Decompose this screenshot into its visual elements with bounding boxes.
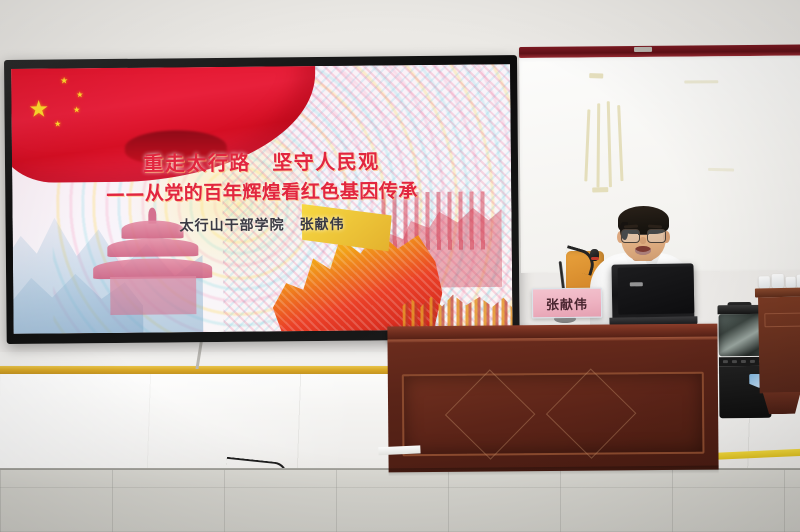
whiteboard-mark — [607, 101, 612, 187]
laptop-screen-back — [618, 266, 695, 314]
cup[interactable] — [797, 275, 800, 289]
flag-star-small-4: ★ — [54, 120, 61, 128]
speaker-podium — [387, 324, 718, 475]
whiteboard-mark — [708, 168, 734, 172]
appliance-button[interactable] — [732, 360, 737, 363]
appliance-button[interactable] — [723, 360, 728, 363]
name-plate-label: 张献伟 — [546, 293, 588, 312]
laptop-lid — [611, 263, 694, 318]
lower-floor — [0, 470, 800, 532]
screen-inner-frame: ★ ★ ★ ★ ★ — [11, 64, 513, 334]
speaker-mouth — [635, 246, 651, 255]
lecture-hall-photo: ★ ★ ★ ★ ★ — [0, 0, 800, 532]
podium-diamond-inlay-right — [546, 368, 637, 459]
flag-star-large: ★ — [28, 97, 49, 120]
microphone-indicator-ring — [591, 257, 599, 260]
slide-text-block: 重走太行路 坚守人民观 ——从党的百年辉煌看红色基因传承 太行山干部学院 张献伟 — [12, 144, 512, 237]
whiteboard-mark — [584, 109, 590, 181]
side-table-leg — [763, 392, 800, 415]
glasses-lens-left — [621, 229, 640, 243]
slide-subtitle: ——从党的百年辉煌看红色基因传承 — [12, 175, 511, 207]
appliance-button[interactable] — [741, 360, 746, 363]
temple-roof-mid — [107, 238, 198, 257]
name-plate: 张献伟 — [532, 288, 602, 319]
whiteboard-mark — [617, 105, 623, 181]
whiteboard-clip — [634, 47, 652, 52]
podium-front — [388, 340, 719, 473]
flag-star-small-1: ★ — [60, 76, 68, 85]
glasses-lens-right — [647, 229, 666, 243]
podium-inlay-panel — [402, 372, 705, 457]
slide-canvas: ★ ★ ★ ★ ★ — [11, 64, 513, 334]
flag-star-small-3: ★ — [73, 107, 80, 115]
podium-diamond-inlay-left — [445, 369, 536, 460]
whiteboard-mark — [684, 80, 718, 83]
whiteboard-mark — [589, 73, 603, 78]
flag-star-small-2: ★ — [76, 91, 83, 99]
laptop-logo — [630, 282, 643, 286]
whiteboard-mark — [592, 187, 608, 192]
side-table-body — [758, 297, 800, 394]
speaker-nose — [640, 237, 646, 244]
laptop-computer[interactable] — [608, 263, 697, 327]
side-table-drawer[interactable] — [764, 313, 800, 328]
temple-body — [110, 276, 197, 315]
whiteboard-mark — [596, 103, 599, 187]
appliance-button[interactable] — [750, 360, 755, 363]
side-table — [755, 288, 800, 417]
led-video-wall[interactable]: ★ ★ ★ ★ ★ — [4, 55, 520, 344]
cup[interactable] — [772, 274, 784, 289]
slide-title: 重走太行路 坚守人民观 — [12, 144, 511, 178]
